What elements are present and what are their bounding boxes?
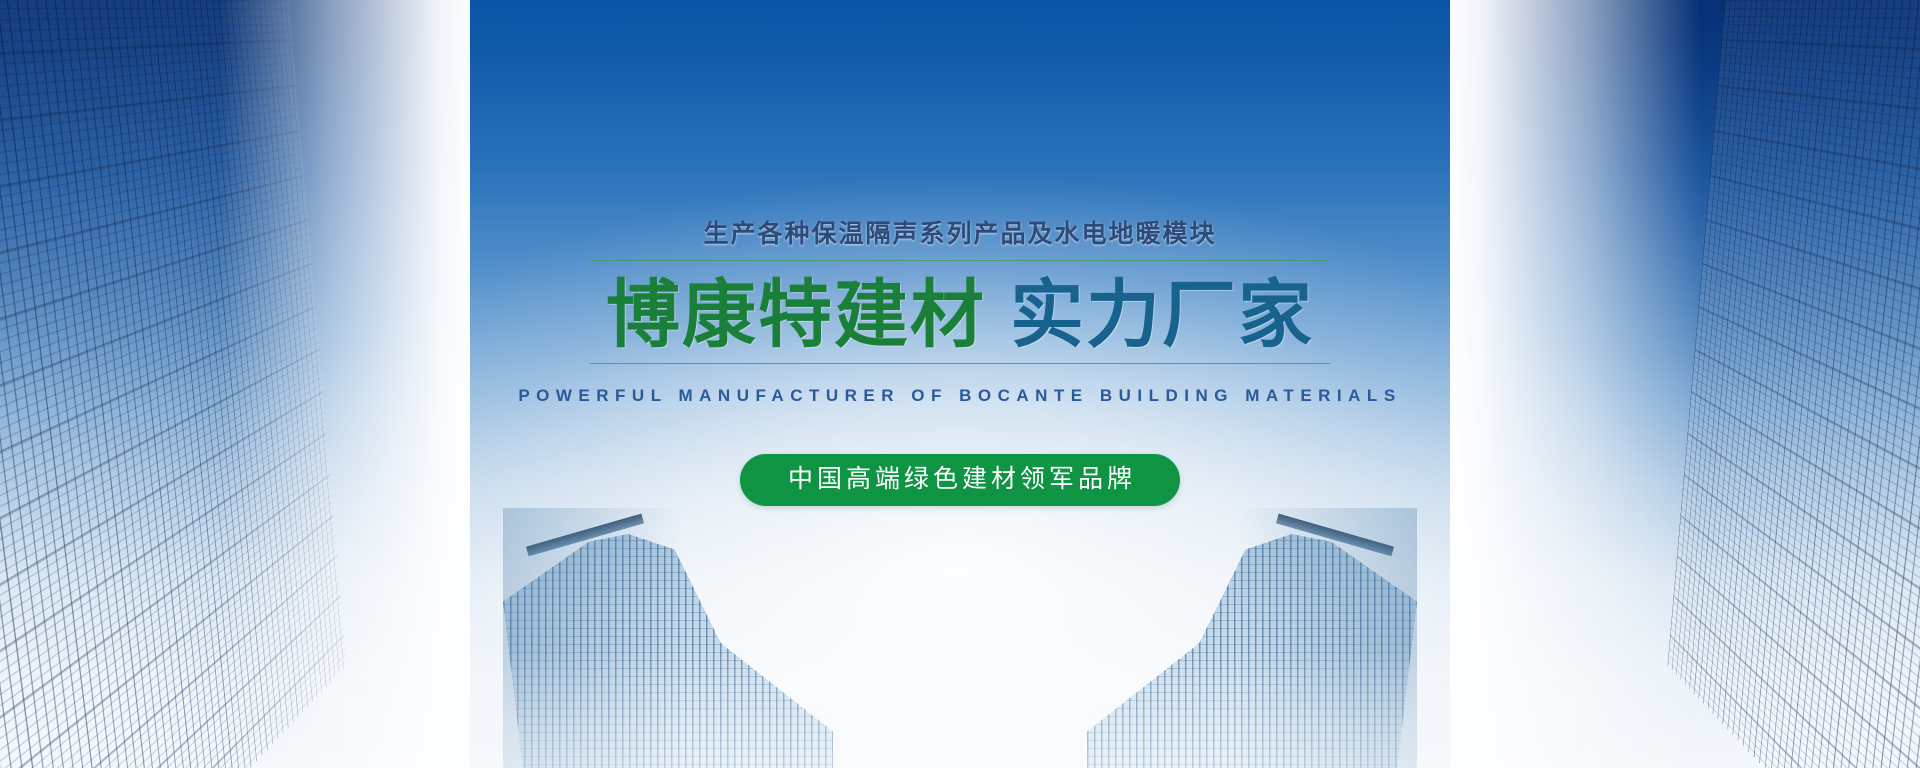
status-badge: 中国高端绿色建材领军品牌 <box>740 454 1180 506</box>
page-title: 博康特建材实力厂家 <box>606 267 1314 361</box>
banner-subtitle-english: POWERFUL MANUFACTURER OF BOCANTE BUILDIN… <box>518 386 1401 406</box>
headline-brand: 博康特建材 <box>606 273 986 356</box>
banner-content: 生产各种保温隔声系列产品及水电地暖模块 博康特建材实力厂家 POWERFUL M… <box>0 0 1920 768</box>
divider-line-top <box>590 260 1330 261</box>
hero-banner: 生产各种保温隔声系列产品及水电地暖模块 博康特建材实力厂家 POWERFUL M… <box>0 0 1920 768</box>
divider-line-bottom <box>590 363 1330 364</box>
banner-tagline: 生产各种保温隔声系列产品及水电地暖模块 <box>703 222 1216 247</box>
headline-claim: 实力厂家 <box>1010 273 1314 356</box>
